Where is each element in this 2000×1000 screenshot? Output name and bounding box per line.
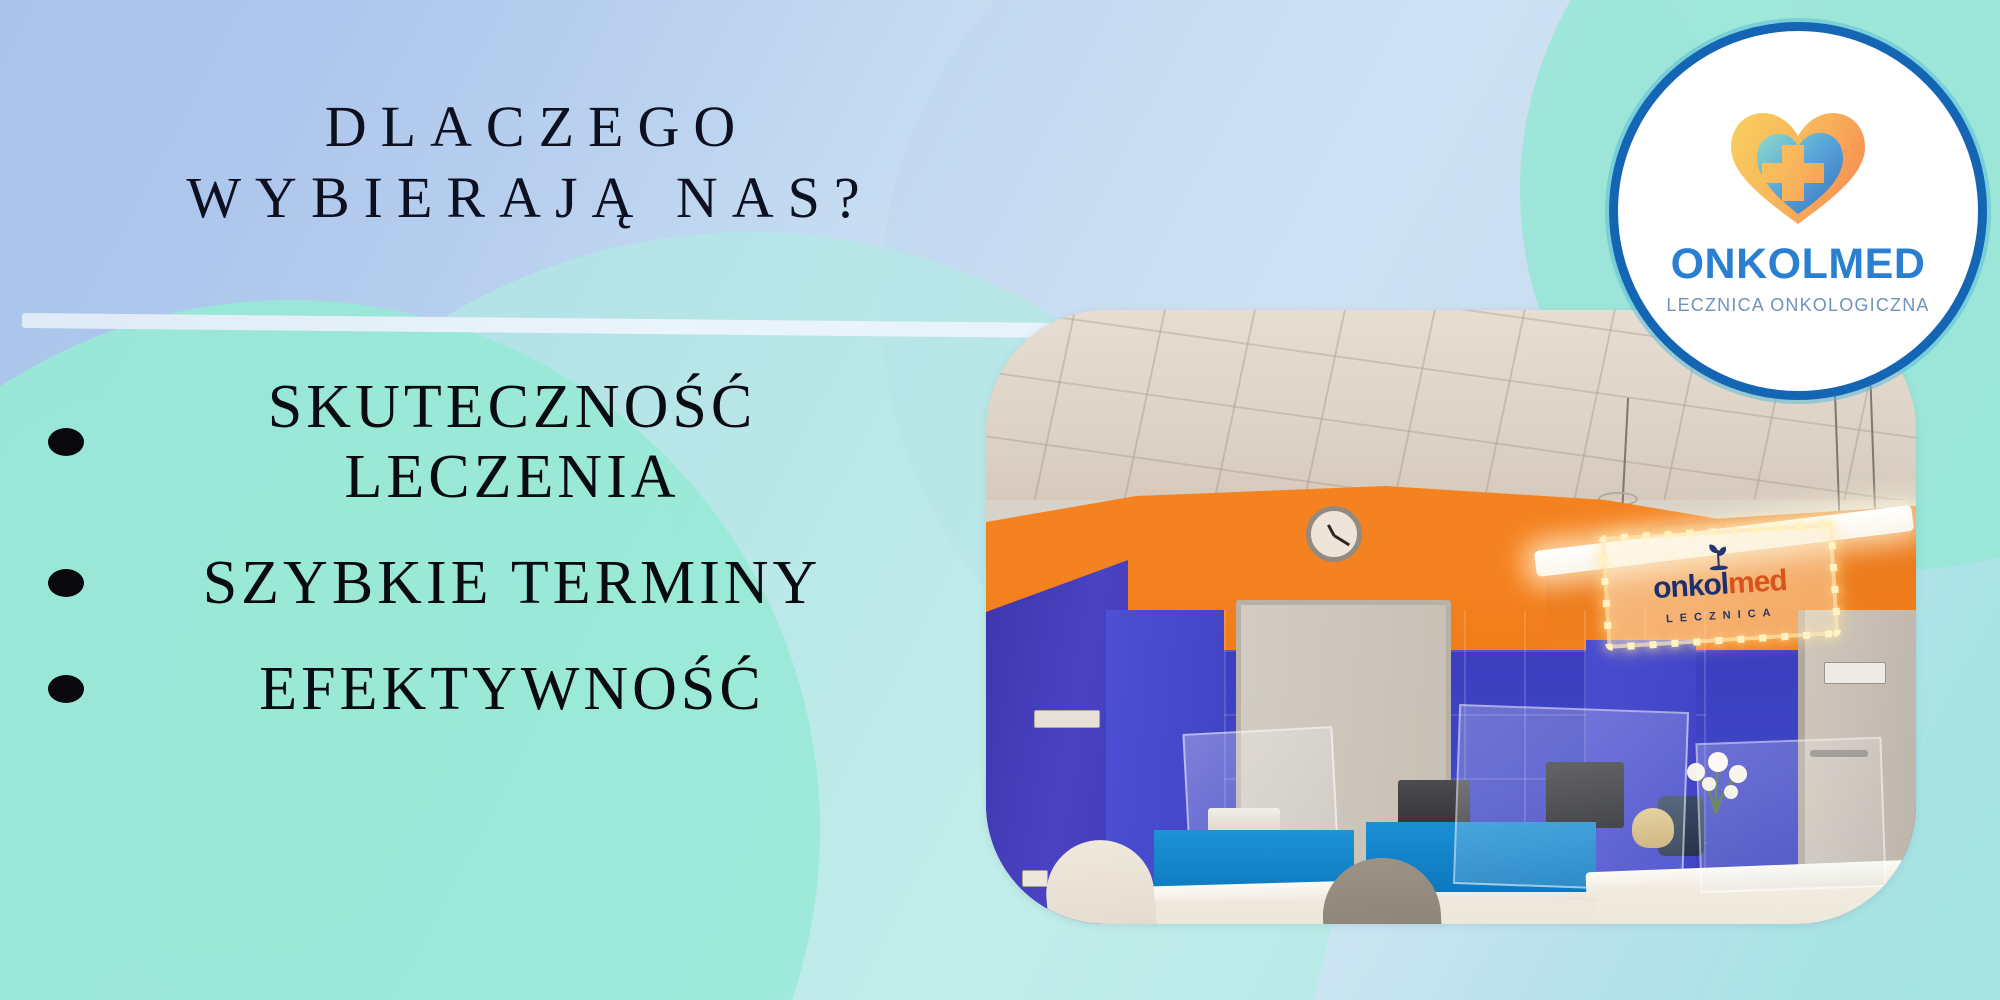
list-item-label: EFEKTYWNOŚĆ [110,654,960,724]
sprout-icon [1702,539,1734,571]
bullet-dot-icon [48,569,84,597]
photo-onkolmed-sign: onkolmed LECZNICA [1601,523,1839,649]
page-title: DLACZEGO WYBIERAJĄ NAS? [150,92,910,234]
bullet-dot-icon [48,428,84,456]
sign-word-b: med [1727,564,1788,601]
chair-back [1042,836,1162,924]
photo-wall-clock [1306,506,1362,562]
list-item: SZYBKIE TERMINY [20,548,960,618]
heart-with-medical-cross-icon [1727,109,1869,227]
list-item: EFEKTYWNOŚĆ [20,654,960,724]
list-item-label: SZYBKIE TERMINY [110,548,960,618]
photo-glass-screen [1695,737,1886,893]
photo-waiting-chair [1030,840,1250,924]
poster-canvas: DLACZEGO WYBIERAJĄ NAS? SKUTECZNOŚĆ LECZ… [0,0,2000,1000]
bullet-dot-icon [48,675,84,703]
list-item-label: SKUTECZNOŚĆ LECZENIA [110,372,960,512]
sign-word-a: onkol [1652,568,1729,606]
photo-wall-switches [1034,710,1100,728]
photo-door-sign [1824,662,1886,684]
logo-wordmark: ONKOLMED [1671,243,1926,286]
list-item: SKUTECZNOŚĆ LECZENIA [20,372,960,512]
logo-tagline: LECZNICA ONKOLOGICZNA [1666,296,1929,314]
photo-waiting-chair [1304,858,1544,924]
benefits-list: SKUTECZNOŚĆ LECZENIA SZYBKIE TERMINY EFE… [20,372,960,724]
onkolmed-logo-badge[interactable]: ONKOLMED LECZNICA ONKOLOGICZNA [1609,22,1987,400]
clinic-photo: onkolmed LECZNICA [986,310,1916,924]
chair-back [1320,855,1446,924]
photo-desk-body [1596,886,1916,924]
